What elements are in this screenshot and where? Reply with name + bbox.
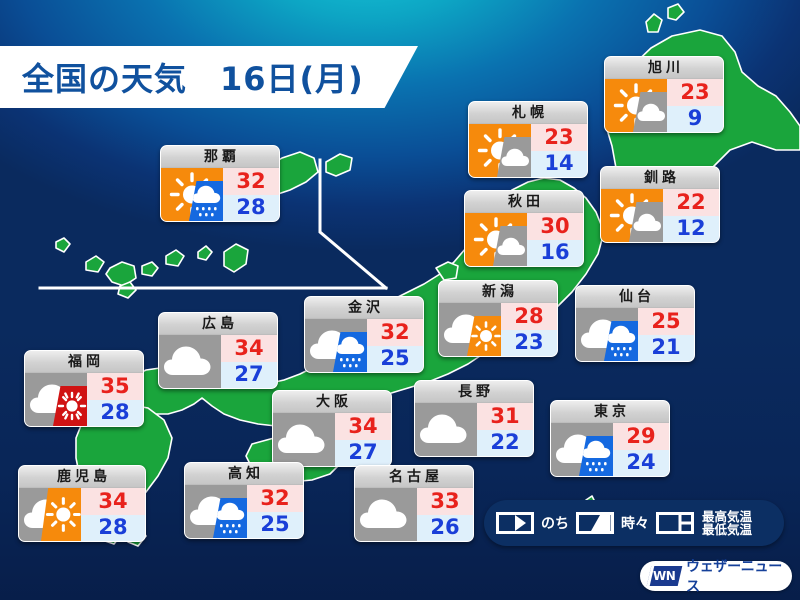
weather-card-body: 3326 (355, 488, 473, 541)
wn-logo-text: WN (653, 569, 675, 583)
cloud-icon (415, 403, 477, 456)
low-temp-label: 最低気温 (702, 523, 752, 536)
weather-card-header: 那覇 (161, 146, 279, 168)
weather-card[interactable]: 秋田3016 (464, 190, 584, 267)
temperature-area: 3428 (81, 488, 145, 541)
low-temperature: 23 (501, 330, 557, 357)
weather-icon-area (161, 168, 223, 221)
weather-card[interactable]: 札幌2314 (468, 101, 588, 178)
weather-card-header: 広島 (159, 313, 277, 335)
weather-card-body: 3228 (161, 168, 279, 221)
weather-icon-area (273, 413, 335, 466)
high-temperature: 23 (531, 124, 587, 151)
high-temperature: 22 (663, 189, 719, 216)
cloud-icon (355, 488, 417, 541)
wn-logo-mark-icon: WN (647, 566, 683, 586)
weather-card-header: 東京 (551, 401, 669, 423)
low-temperature: 22 (477, 430, 533, 457)
high-temperature: 33 (417, 488, 473, 515)
weather-card[interactable]: 新潟2823 (438, 280, 558, 357)
temperature-area: 2521 (638, 308, 694, 361)
weather-card-header: 高知 (185, 463, 303, 485)
weather-card-body: 2314 (469, 124, 587, 177)
city-name: 名古屋 (385, 470, 443, 484)
weather-card[interactable]: 東京2924 (550, 400, 670, 477)
weather-icon-area (19, 488, 81, 541)
weather-card-header: 福岡 (25, 351, 143, 373)
low-temperature: 16 (527, 240, 583, 267)
weather-card[interactable]: 釧路2212 (600, 166, 720, 243)
weather-icon-area (415, 403, 477, 456)
high-temperature: 29 (613, 423, 669, 450)
low-temperature: 27 (221, 362, 277, 389)
city-name: 仙台 (615, 290, 655, 304)
city-name: 那覇 (200, 150, 240, 164)
weather-card[interactable]: 福岡3528 (24, 350, 144, 427)
weather-icon-area (439, 303, 501, 356)
weather-card-header: 長野 (415, 381, 533, 403)
city-name: 鹿児島 (53, 470, 111, 484)
weather-card[interactable]: 那覇3228 (160, 145, 280, 222)
temperature-legend-labels: 最高気温 最低気温 (702, 510, 752, 537)
temperature-area: 2314 (531, 124, 587, 177)
high-temperature: 34 (221, 335, 277, 362)
high-temperature: 32 (247, 485, 303, 512)
low-temperature: 28 (223, 195, 279, 222)
low-temperature: 28 (87, 400, 143, 427)
high-temperature: 34 (335, 413, 391, 440)
weather-card-header: 秋田 (465, 191, 583, 213)
high-temp-label: 最高気温 (702, 510, 752, 523)
high-temperature: 35 (87, 373, 143, 400)
low-temperature: 25 (247, 512, 303, 539)
low-temperature: 26 (417, 515, 473, 542)
high-temperature: 34 (81, 488, 145, 515)
weather-icon-area (469, 124, 531, 177)
city-name: 高知 (224, 467, 264, 481)
low-temperature: 14 (531, 151, 587, 178)
high-temperature: 30 (527, 213, 583, 240)
weather-card-header: 釧路 (601, 167, 719, 189)
weather-icon-area (159, 335, 221, 388)
weather-card-body: 2212 (601, 189, 719, 242)
weather-card-header: 鹿児島 (19, 466, 145, 488)
city-name: 釧路 (640, 171, 680, 185)
weather-card-body: 2521 (576, 308, 694, 361)
legend: のち 時々 最高気温 最低気温 (484, 500, 784, 546)
city-name: 東京 (590, 405, 630, 419)
weather-card[interactable]: 旭川239 (604, 56, 724, 133)
weathernews-logo[interactable]: WN ウェザーニュース (640, 561, 792, 591)
low-temperature: 28 (81, 515, 145, 542)
weather-card-body: 2823 (439, 303, 557, 356)
weather-card-header: 札幌 (469, 102, 587, 124)
temperature-area: 3225 (367, 319, 423, 372)
city-name: 大阪 (312, 395, 352, 409)
weather-card-header: 新潟 (439, 281, 557, 303)
low-temperature: 12 (663, 216, 719, 243)
weather-icon-area (25, 373, 87, 426)
temperature-area: 3427 (335, 413, 391, 466)
temperature-area: 3326 (417, 488, 473, 541)
weather-card[interactable]: 仙台2521 (575, 285, 695, 362)
city-name: 新潟 (478, 285, 518, 299)
high-temperature: 32 (223, 168, 279, 195)
temperature-symbol-icon (656, 512, 694, 534)
weather-card-body: 3428 (19, 488, 145, 541)
low-temperature: 27 (335, 440, 391, 467)
weather-card-body: 3225 (305, 319, 423, 372)
nochi-label: のち (541, 513, 569, 533)
weather-card[interactable]: 高知3225 (184, 462, 304, 539)
weathernews-brand-text: ウェザーニュース (686, 556, 792, 596)
temperature-area: 2924 (613, 423, 669, 476)
weather-icon-area (601, 189, 663, 242)
low-temperature: 24 (613, 450, 669, 477)
temperature-area: 239 (667, 79, 723, 132)
high-temperature: 25 (638, 308, 694, 335)
weather-card-body: 3225 (185, 485, 303, 538)
weather-icon-area (305, 319, 367, 372)
weather-card[interactable]: 名古屋3326 (354, 465, 474, 542)
temperature-area: 3016 (527, 213, 583, 266)
page-title: 全国の天気 16日(月) (22, 54, 364, 100)
tokidoki-label: 時々 (621, 513, 649, 533)
temperature-area: 3122 (477, 403, 533, 456)
low-temperature: 21 (638, 335, 694, 362)
weather-icon-area (551, 423, 613, 476)
weather-card-body: 3122 (415, 403, 533, 456)
high-temperature: 28 (501, 303, 557, 330)
weather-card-header: 大阪 (273, 391, 391, 413)
city-name: 広島 (198, 317, 238, 331)
low-temperature: 9 (667, 106, 723, 133)
weather-icon-area (465, 213, 527, 266)
weather-card-body: 2924 (551, 423, 669, 476)
nochi-symbol-icon (496, 512, 534, 534)
weather-card-header: 金沢 (305, 297, 423, 319)
high-temperature: 32 (367, 319, 423, 346)
temperature-area: 3427 (221, 335, 277, 388)
tokidoki-symbol-icon (576, 512, 614, 534)
city-name: 札幌 (508, 106, 548, 120)
weather-card-body: 3427 (159, 335, 277, 388)
cloud-icon (159, 335, 221, 388)
page-title-banner: 全国の天気 16日(月) (0, 46, 418, 108)
cloud-icon (273, 413, 335, 466)
weather-card-body: 3016 (465, 213, 583, 266)
temperature-area: 3228 (223, 168, 279, 221)
weather-card-body: 3427 (273, 413, 391, 466)
temperature-area: 2212 (663, 189, 719, 242)
temperature-area: 3528 (87, 373, 143, 426)
low-temperature: 25 (367, 346, 423, 373)
city-name: 福岡 (64, 355, 104, 369)
city-name: 長野 (454, 385, 494, 399)
weather-icon-area (576, 308, 638, 361)
weather-icon-area (605, 79, 667, 132)
temperature-area: 2823 (501, 303, 557, 356)
weather-card-header: 名古屋 (355, 466, 473, 488)
weather-card[interactable]: 広島3427 (158, 312, 278, 389)
temperature-area: 3225 (247, 485, 303, 538)
weather-card[interactable]: 鹿児島3428 (18, 465, 146, 542)
high-temperature: 31 (477, 403, 533, 430)
weather-card-header: 旭川 (605, 57, 723, 79)
city-name: 旭川 (644, 61, 684, 75)
weather-icon-area (185, 485, 247, 538)
weather-card-header: 仙台 (576, 286, 694, 308)
city-name: 金沢 (344, 301, 384, 315)
weather-map-screen: 全国の天気 16日(月) 旭川239札幌2314釧路2212秋田3016那覇32… (0, 0, 800, 600)
weather-card-body: 3528 (25, 373, 143, 426)
weather-card[interactable]: 長野3122 (414, 380, 534, 457)
city-name: 秋田 (504, 195, 544, 209)
high-temperature: 23 (667, 79, 723, 106)
weather-icon-area (355, 488, 417, 541)
weather-card-body: 239 (605, 79, 723, 132)
weather-card[interactable]: 大阪3427 (272, 390, 392, 467)
weather-card[interactable]: 金沢3225 (304, 296, 424, 373)
